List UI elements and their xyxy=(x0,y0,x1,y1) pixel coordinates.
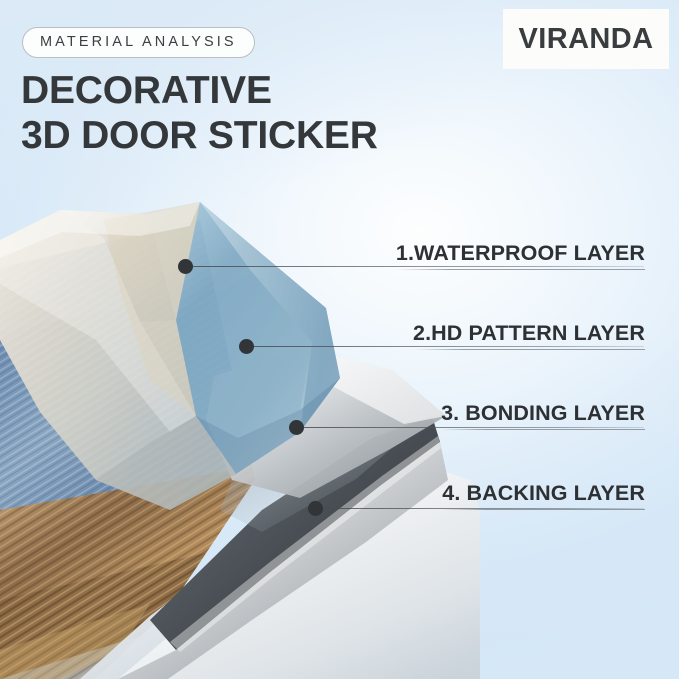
layer-label-waterproof: 1.WATERPROOF LAYER xyxy=(396,240,645,270)
layer-label-hd-pattern: 2.HD PATTERN LAYER xyxy=(413,320,645,350)
brand-logo: VIRANDA xyxy=(503,9,669,69)
layer-label-bonding-rule xyxy=(441,429,645,430)
layer-label-hd-pattern-rule xyxy=(413,349,645,350)
title-line-1: DECORATIVE xyxy=(21,69,272,112)
layer-label-hd-pattern-text: 2.HD PATTERN LAYER xyxy=(413,320,645,346)
callout-dot-backing xyxy=(308,501,323,516)
callout-dot-hd-pattern xyxy=(239,339,254,354)
callout-dot-bonding xyxy=(289,420,304,435)
infographic-canvas: MATERIAL ANALYSIS DECORATIVE 3D DOOR STI… xyxy=(0,0,679,679)
brand-logo-text: VIRANDA xyxy=(519,23,654,56)
material-analysis-badge: MATERIAL ANALYSIS xyxy=(22,27,255,58)
page-title: DECORATIVE 3D DOOR STICKER xyxy=(21,68,378,158)
layer-label-waterproof-text: 1.WATERPROOF LAYER xyxy=(396,240,645,266)
title-line-2: 3D DOOR STICKER xyxy=(21,113,378,158)
layer-label-waterproof-rule xyxy=(396,269,645,270)
callout-dot-waterproof xyxy=(178,259,193,274)
layer-label-bonding: 3. BONDING LAYER xyxy=(441,400,645,430)
layer-label-backing: 4. BACKING LAYER xyxy=(442,480,645,510)
layer-label-bonding-text: 3. BONDING LAYER xyxy=(441,400,645,426)
layer-label-backing-rule xyxy=(442,509,645,510)
layer-label-backing-text: 4. BACKING LAYER xyxy=(442,480,645,506)
